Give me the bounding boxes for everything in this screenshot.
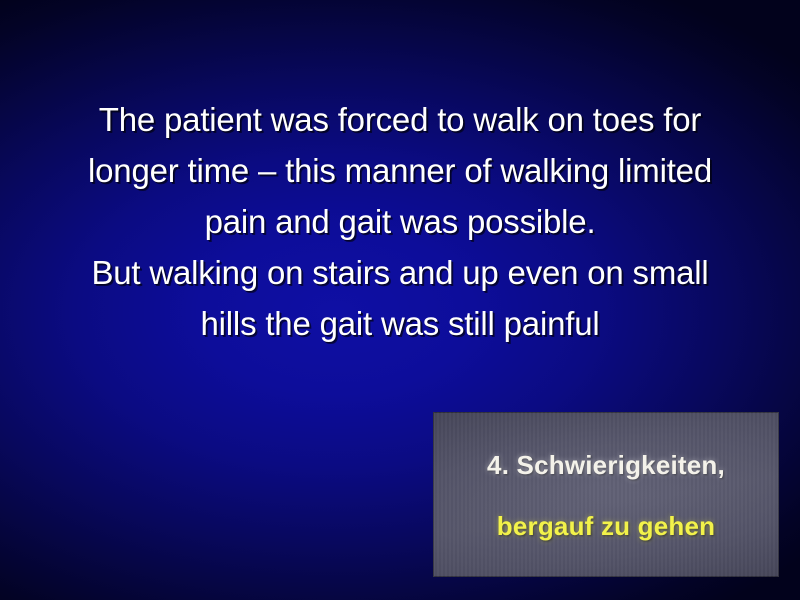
embedded-photo-panel: 4. Schwierigkeiten, bergauf zu gehen [433,412,779,577]
body-line-1: The patient was forced to walk on toes f… [0,94,800,145]
body-line-2: longer time – this manner of walking lim… [0,145,800,196]
body-line-5: hills the gait was still painful [0,298,800,349]
photo-panel-heading: 4. Schwierigkeiten, [433,450,779,481]
photo-panel-subheading: bergauf zu gehen [433,511,779,542]
slide-body-text: The patient was forced to walk on toes f… [0,94,800,349]
body-line-3: pain and gait was possible. [0,196,800,247]
presentation-slide: The patient was forced to walk on toes f… [0,0,800,600]
body-line-4: But walking on stairs and up even on sma… [0,247,800,298]
